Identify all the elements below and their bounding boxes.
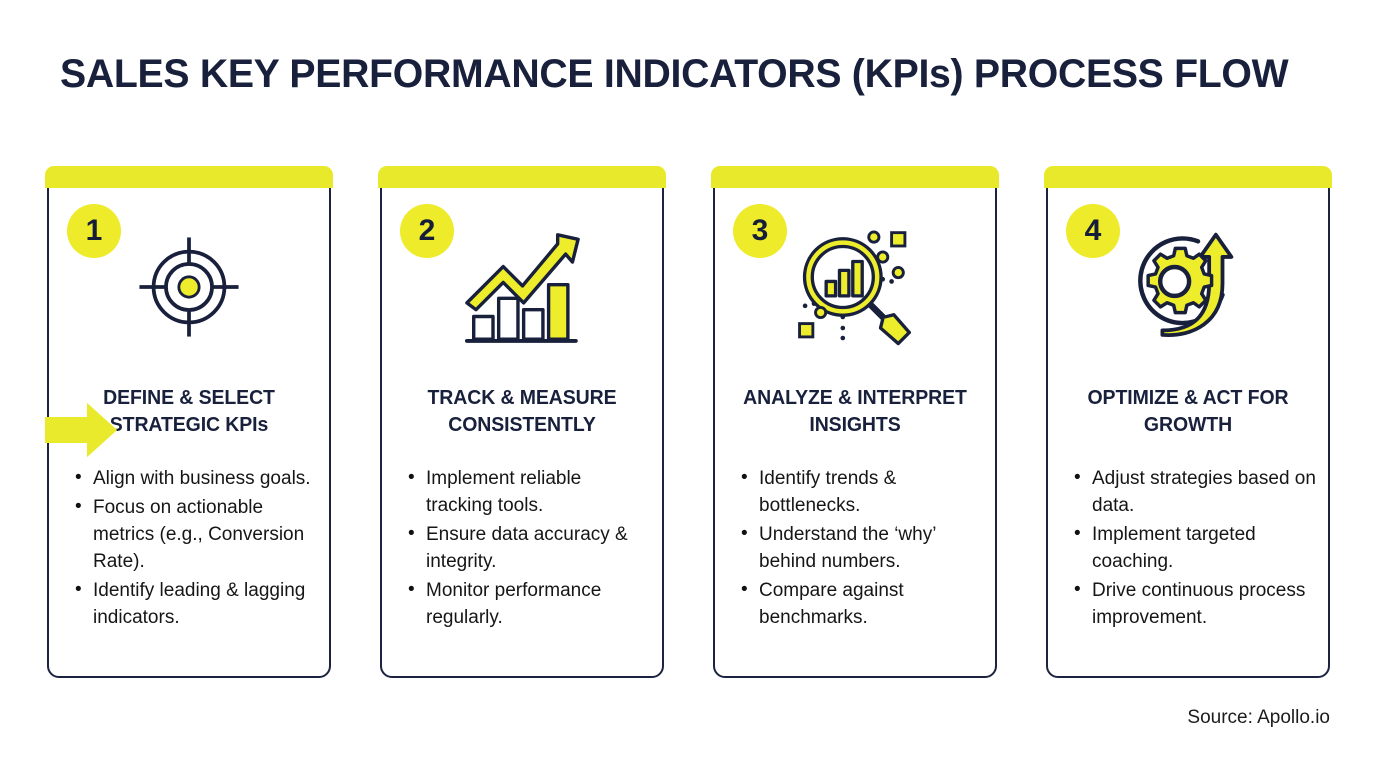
arrow-step3-to-step4 — [45, 401, 117, 459]
card-heading: TRACK & MEASURE CONSISTENTLY — [399, 384, 646, 439]
card-top-bar — [1044, 166, 1332, 188]
list-item: Monitor performance regularly. — [426, 578, 652, 632]
card-top-bar — [45, 166, 333, 188]
step-number-badge: 4 — [1066, 204, 1120, 258]
list-item: Ensure data accuracy & integrity. — [426, 522, 652, 576]
card-top-bar — [378, 166, 666, 188]
list-item: Drive continuous process improvement. — [1092, 578, 1318, 632]
list-item: Implement reliable tracking tools. — [426, 466, 652, 520]
step-number-label: 3 — [752, 216, 769, 246]
card-heading: OPTIMIZE & ACT FOR GROWTH — [1065, 384, 1312, 439]
page-title: SALES KEY PERFORMANCE INDICATORS (KPIs) … — [60, 52, 1288, 97]
step-card-3[interactable]: 3 — [711, 166, 999, 678]
step-number-badge: 1 — [67, 204, 121, 258]
step-number-label: 2 — [419, 216, 436, 246]
list-item: Understand the ‘why’ behind numbers. — [759, 522, 985, 576]
list-item: Focus on actionable metrics (e.g., Conve… — [93, 495, 319, 576]
list-item: Compare against benchmarks. — [759, 578, 985, 632]
card-heading: ANALYZE & INTERPRET INSIGHTS — [732, 384, 979, 439]
step-number-label: 1 — [86, 216, 103, 246]
list-item: Align with business goals. — [93, 466, 319, 493]
list-item: Implement targeted coaching. — [1092, 522, 1318, 576]
bullet-list: Identify trends & bottlenecks. Understan… — [737, 466, 985, 634]
list-item: Adjust strategies based on data. — [1092, 466, 1318, 520]
list-item: Identify trends & bottlenecks. — [759, 466, 985, 520]
step-card-4[interactable]: 4 OPTIMIZE & ACT FOR GROWTH Adjust strat… — [1044, 166, 1332, 678]
card-top-bar — [711, 166, 999, 188]
steps-container: 1 DEFINE & SELECT STRATEGIC KPIs — [45, 166, 1333, 678]
step-number-label: 4 — [1085, 216, 1102, 246]
step-number-badge: 3 — [733, 204, 787, 258]
bullet-list: Align with business goals. Focus on acti… — [71, 466, 319, 634]
step-card-2[interactable]: 2 TRACK & MEASURE CONSISTENTLY Implement… — [378, 166, 666, 678]
source-label: Source: Apollo.io — [1187, 707, 1330, 729]
list-item: Identify leading & lagging indicators. — [93, 578, 319, 632]
bullet-list: Adjust strategies based on data. Impleme… — [1070, 466, 1318, 634]
step-number-badge: 2 — [400, 204, 454, 258]
bullet-list: Implement reliable tracking tools. Ensur… — [404, 466, 652, 634]
infographic-canvas: SALES KEY PERFORMANCE INDICATORS (KPIs) … — [0, 0, 1376, 768]
